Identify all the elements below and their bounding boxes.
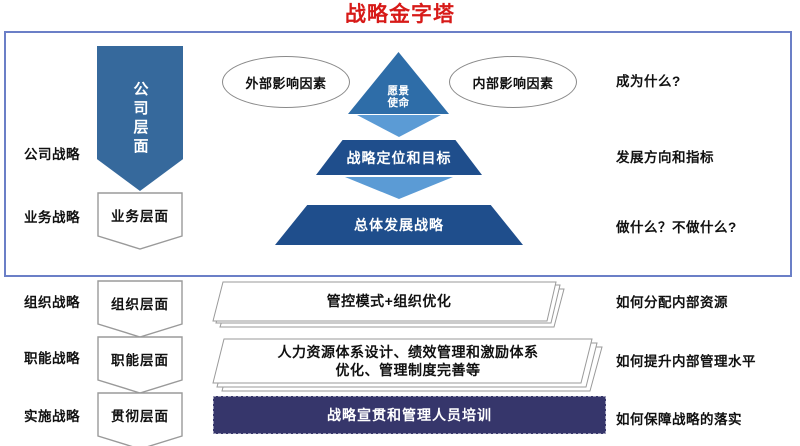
- level-chevron-business[interactable]: 业务层面: [97, 192, 183, 250]
- overall-development-label: 总体发展战略: [354, 215, 444, 235]
- page-title: 战略金字塔: [0, 2, 800, 28]
- slab-control-mode[interactable]: 管控模式+组织优化: [212, 281, 566, 329]
- slab-hr-systems-line1: 人力资源体系设计、绩效管理和激励体系: [278, 343, 539, 361]
- slide-root: 战略金字塔 公司战略 业务战略 组织战略 职能战略 实施战略 公司层面 业务层面…: [0, 0, 800, 446]
- level-chevron-company-label: 公司层面: [133, 81, 148, 157]
- level-chevron-implementation[interactable]: 贯彻层面: [97, 392, 183, 446]
- slab-hr-systems[interactable]: 人力资源体系设计、绩效管理和激励体系 优化、管理制度完善等: [212, 337, 604, 393]
- stage-label-function: 职能战略: [12, 347, 92, 367]
- strategy-positioning-trapezoid[interactable]: 战略定位和目标: [316, 140, 482, 175]
- stage-label-organization: 组织战略: [12, 291, 92, 311]
- level-chevron-business-label: 业务层面: [97, 192, 183, 237]
- internal-factors-label: 内部影响因素: [472, 73, 553, 92]
- stage-label-business: 业务战略: [12, 206, 92, 226]
- slab-control-mode-label: 管控模式+组织优化: [327, 292, 452, 310]
- question-resource: 如何分配内部资源: [616, 291, 728, 311]
- overall-development-trapezoid[interactable]: 总体发展战略: [275, 205, 523, 245]
- external-factors-ellipse[interactable]: 外部影响因素: [222, 56, 350, 108]
- stage-label-corporate: 公司战略: [12, 143, 92, 163]
- slab-training-bar[interactable]: 战略宣贯和管理人员培训: [213, 396, 606, 434]
- question-become: 成为什么?: [616, 70, 681, 90]
- slab-hr-systems-line2: 优化、管理制度完善等: [336, 361, 481, 379]
- question-dowhat: 做什么？不做什么?: [616, 216, 737, 236]
- level-chevron-organization[interactable]: 组织层面: [97, 280, 183, 338]
- level-chevron-organization-label: 组织层面: [97, 280, 183, 325]
- question-management: 如何提升内部管理水平: [616, 350, 756, 370]
- question-direction: 发展方向和指标: [616, 146, 714, 166]
- external-factors-label: 外部影响因素: [245, 73, 326, 92]
- slab-training-label: 战略宣贯和管理人员培训: [327, 405, 492, 425]
- level-chevron-function[interactable]: 职能层面: [97, 336, 183, 394]
- strategy-positioning-label: 战略定位和目标: [347, 148, 452, 168]
- mission-label: 使命: [348, 98, 449, 110]
- internal-factors-ellipse[interactable]: 内部影响因素: [449, 56, 577, 108]
- question-implement: 如何保障战略的落实: [616, 408, 742, 428]
- stage-label-implementation: 实施战略: [12, 405, 92, 425]
- level-chevron-function-label: 职能层面: [97, 336, 183, 381]
- level-chevron-implementation-label: 贯彻层面: [97, 392, 183, 437]
